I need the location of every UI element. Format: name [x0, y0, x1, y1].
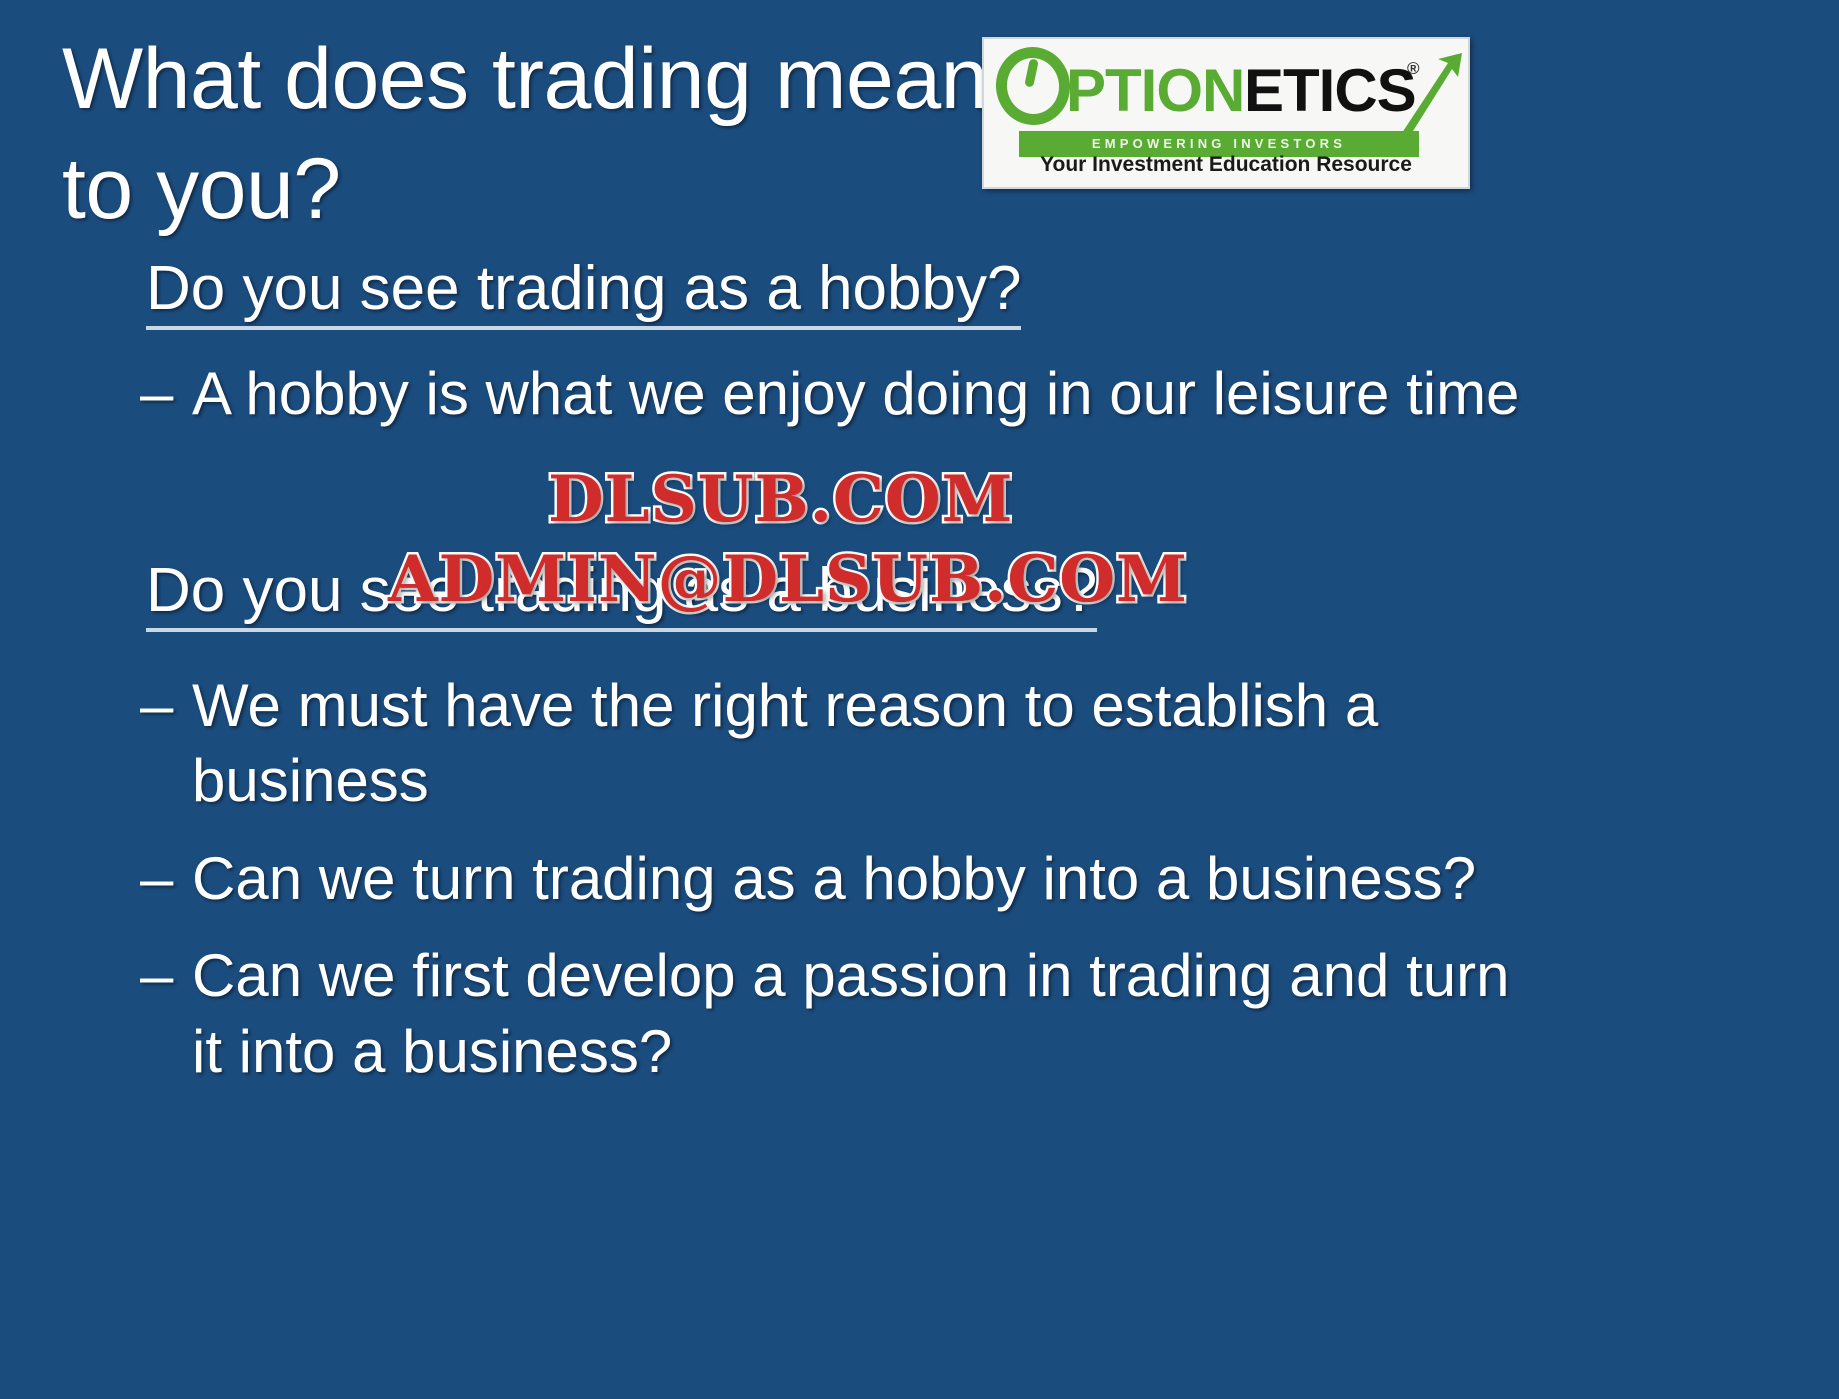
spacer: [0, 819, 1839, 841]
list-item: – Can we first develop a passion in trad…: [140, 938, 1540, 1089]
section-1-heading: Do you see trading as a hobby?: [146, 258, 1021, 330]
logo-text-etics: ETICS: [1244, 61, 1416, 121]
list-item-label: Can we turn trading as a hobby into a bu…: [192, 841, 1540, 917]
bullet-dash-icon: –: [140, 356, 192, 432]
logo-wordmark: PTION ETICS ® EMPOWERING INVESTORS: [994, 45, 1458, 131]
list-item: – We must have the right reason to estab…: [140, 668, 1540, 819]
list-item: – Can we turn trading as a hobby into a …: [140, 841, 1540, 917]
bullet-dash-icon: –: [140, 938, 192, 1014]
list-item: – A hobby is what we enjoy doing in our …: [140, 356, 1540, 432]
section-1-heading-wrap: Do you see trading as a hobby?: [0, 258, 1839, 330]
optionetics-logo: PTION ETICS ® EMPOWERING INVESTORS Your …: [982, 37, 1470, 189]
growth-arrow-icon: [1394, 53, 1464, 139]
spacer: [0, 916, 1839, 938]
spacer: [0, 632, 1839, 668]
watermark-admin-email: ADMIN@DLSUB.COM: [388, 542, 1188, 617]
logo-tagline: Your Investment Education Resource: [984, 153, 1468, 177]
logo-text-option: PTION: [1066, 61, 1244, 121]
spacer: [0, 330, 1839, 356]
slide-body: Do you see trading as a hobby? – A hobby…: [0, 258, 1839, 1090]
bullet-dash-icon: –: [140, 668, 192, 744]
logo-o-ring-icon: [991, 42, 1075, 130]
presentation-slide: What does trading mean to you? PTION ETI…: [0, 0, 1839, 1399]
bullet-dash-icon: –: [140, 841, 192, 917]
list-item-label: We must have the right reason to establi…: [192, 668, 1540, 819]
list-item-label: A hobby is what we enjoy doing in our le…: [192, 356, 1540, 432]
watermark-dlsub: DLSUB.COM: [548, 462, 1013, 537]
list-item-label: Can we first develop a passion in tradin…: [192, 938, 1540, 1089]
